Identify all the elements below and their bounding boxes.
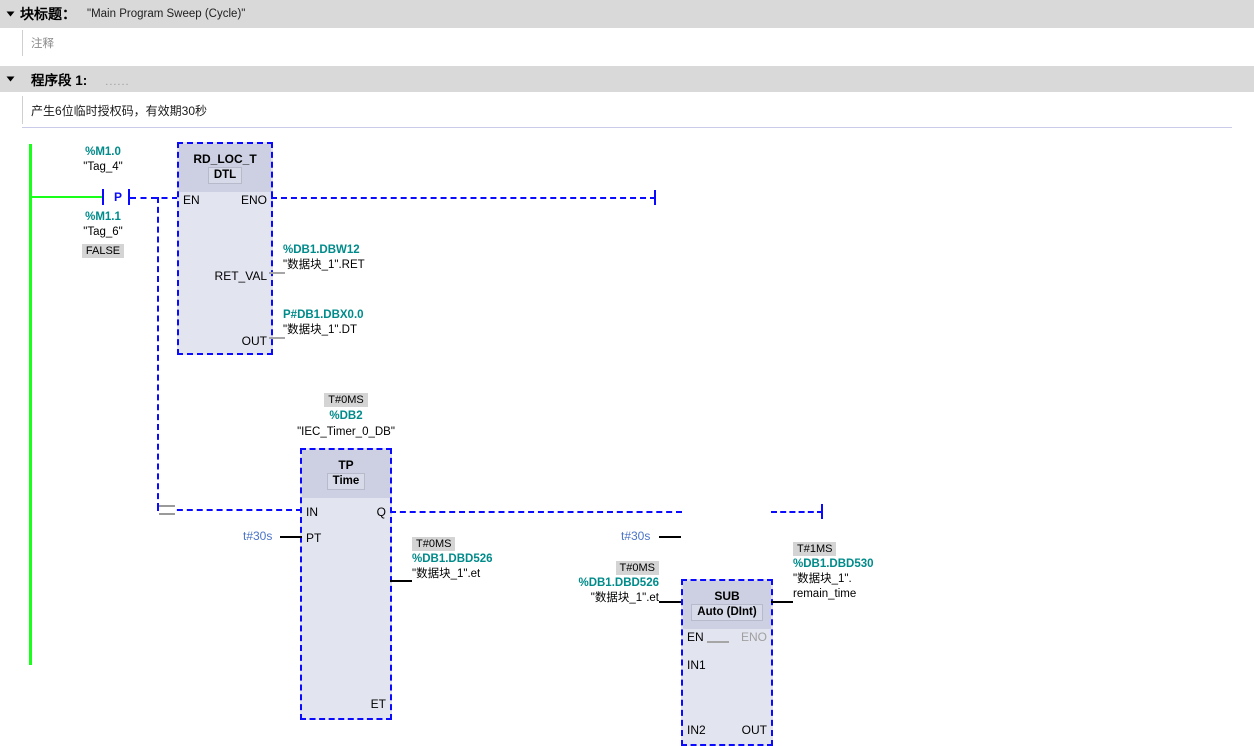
- wire-contact-to-en: [130, 197, 178, 199]
- tp-db-address[interactable]: %DB2: [282, 408, 410, 423]
- operand-out-dt[interactable]: P#DB1.DBX0.0 "数据块_1".DT: [283, 307, 364, 337]
- block-title-label: 块标题：: [20, 4, 76, 24]
- contact-address-2: %M1.1: [58, 209, 148, 224]
- block-name: RD_LOC_T: [193, 152, 256, 166]
- collapse-triangle-icon[interactable]: [7, 12, 15, 17]
- operand-pt-constant[interactable]: t#30s: [243, 529, 272, 543]
- operand-remain-time[interactable]: T#1MS %DB1.DBD530 "数据块_1". remain_time: [793, 541, 874, 601]
- lead-sub-out: [771, 601, 793, 603]
- wire-sub-eno-endpoint: [821, 504, 823, 519]
- pin-et[interactable]: ET: [371, 697, 386, 711]
- pin-pt[interactable]: PT: [306, 531, 321, 545]
- block-type: Time: [327, 473, 366, 490]
- block-type: Auto (DInt): [691, 604, 762, 621]
- pin-in[interactable]: IN: [306, 505, 318, 519]
- network-title: 程序段 1:: [31, 69, 87, 89]
- lead-out: [269, 337, 285, 339]
- network-collapse-triangle-icon[interactable]: [7, 77, 15, 82]
- lead-et: [390, 580, 412, 582]
- operand-in1-constant[interactable]: t#30s: [621, 529, 650, 543]
- pin-eno[interactable]: ENO: [241, 193, 267, 207]
- lead-pt: [280, 536, 302, 538]
- block-header-tp: TP Time: [302, 450, 390, 498]
- function-block-tp[interactable]: TP Time IN Q PT ET: [300, 448, 392, 720]
- block-name: SUB: [714, 589, 739, 603]
- lead-ret-val: [269, 272, 285, 274]
- operand-ret-val[interactable]: %DB1.DBW12 "数据块_1".RET: [283, 242, 365, 272]
- block-header-sub: SUB Auto (DInt): [683, 581, 771, 629]
- pin-out[interactable]: OUT: [242, 334, 267, 348]
- block-title-bar: 块标题： "Main Program Sweep (Cycle)": [0, 0, 1254, 28]
- tp-db-symbol[interactable]: "IEC_Timer_0_DB": [262, 424, 430, 439]
- network-comment[interactable]: 产生6位临时授权码，有效期30秒: [22, 96, 1232, 124]
- block-name: TP: [338, 458, 353, 472]
- open-branch-marker[interactable]: [159, 505, 175, 515]
- rail-branch-wire: [31, 196, 103, 198]
- operand-in2[interactable]: T#0MS %DB1.DBD526 "数据块_1".et: [563, 560, 659, 605]
- function-block-sub[interactable]: SUB Auto (DInt) EN ENO IN1 IN2 OUT: [681, 579, 773, 746]
- eno-disabled-stub: [707, 641, 729, 643]
- contact-status-badge: FALSE: [58, 243, 148, 258]
- wire-eno-rung: [271, 197, 656, 199]
- contact-symbol: "Tag_4": [58, 159, 148, 174]
- pin-q[interactable]: Q: [377, 505, 386, 519]
- block-type: DTL: [208, 167, 242, 184]
- function-block-rd-loc-t[interactable]: RD_LOC_T DTL EN ENO RET_VAL OUT: [177, 142, 273, 355]
- pin-in1[interactable]: IN1: [687, 658, 706, 672]
- block-header-rd-loc-t: RD_LOC_T DTL: [179, 144, 271, 192]
- wire-sub-eno-rung: [771, 511, 823, 513]
- block-comment[interactable]: 注释: [22, 30, 1232, 56]
- operand-et[interactable]: T#0MS %DB1.DBD526 "数据块_1".et: [412, 536, 493, 581]
- pin-in2[interactable]: IN2: [687, 723, 706, 737]
- pin-eno[interactable]: ENO: [741, 630, 767, 644]
- pin-out[interactable]: OUT: [742, 723, 767, 737]
- lead-in2: [659, 601, 681, 603]
- ladder-canvas: %M1.0 "Tag_4" P %M1.1 "Tag_6" FALSE RD_L…: [0, 130, 1254, 676]
- wire-eno-endpoint: [654, 190, 656, 205]
- wire-branch-to-tp-in: [157, 509, 302, 511]
- network-divider: [22, 127, 1232, 128]
- pin-en[interactable]: EN: [183, 193, 200, 207]
- wire-branch-vertical: [157, 197, 159, 509]
- network-title-bar: 程序段 1: ......: [0, 66, 1254, 92]
- lead-in1: [659, 536, 681, 538]
- contact-address: %M1.0: [58, 144, 148, 159]
- tp-db-badge: T#0MS: [282, 392, 410, 407]
- contact-symbol-2: "Tag_6": [58, 224, 148, 239]
- network-title-dots: ......: [105, 71, 129, 88]
- pin-en[interactable]: EN: [687, 630, 704, 644]
- wire-q-to-sub-en: [390, 511, 682, 513]
- pin-ret-val[interactable]: RET_VAL: [215, 269, 267, 283]
- block-title-value: "Main Program Sweep (Cycle)": [87, 8, 245, 20]
- power-rail: [29, 144, 32, 665]
